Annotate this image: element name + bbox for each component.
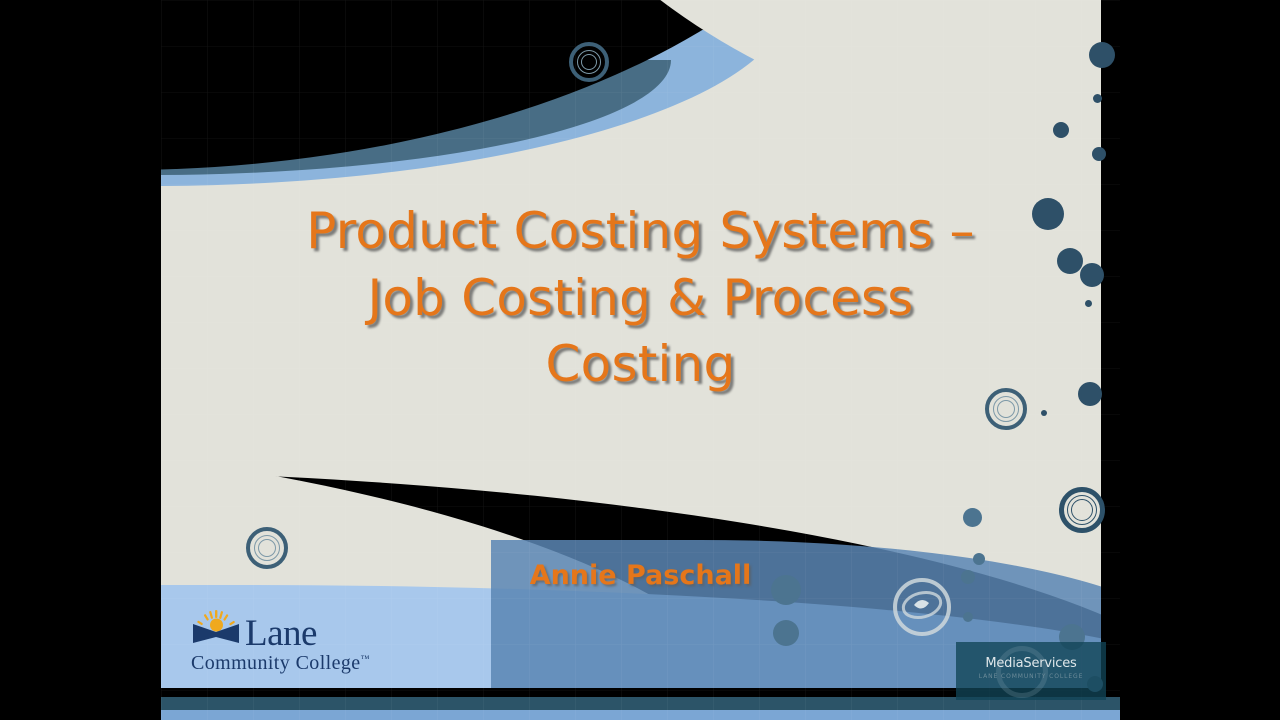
circle-dot-decoration (1053, 122, 1069, 138)
concentric-ring-icon (1059, 487, 1105, 533)
slide-title-line-1: Product Costing Systems – (161, 198, 1120, 265)
logo-wordmark: Lane (245, 617, 317, 651)
watermark-sublabel: LANE COMMUNITY COLLEGE (956, 673, 1106, 680)
bottom-light-blue-band (161, 710, 1120, 720)
logo-subtitle-text: Community College (191, 652, 361, 674)
slide-title: Product Costing Systems – Job Costing & … (161, 198, 1120, 398)
circle-dot-decoration (1041, 410, 1047, 416)
video-player-stage: Product Costing Systems – Job Costing & … (0, 0, 1280, 720)
lane-community-college-logo: Lane Community College™ (191, 608, 370, 675)
logo-subtitle: Community College™ (191, 652, 370, 675)
circle-dot-decoration (963, 508, 982, 527)
circle-dot-decoration (1092, 147, 1106, 161)
circle-dot-decoration (1089, 42, 1115, 68)
circle-dot-decoration (773, 620, 799, 646)
slide-title-line-3: Costing (161, 331, 1120, 398)
logo-trademark: ™ (361, 653, 370, 663)
book-sunrise-icon (191, 608, 243, 651)
circle-dot-decoration (963, 612, 973, 622)
watermark-label: MediaServices (956, 656, 1106, 671)
circle-dot-decoration (1093, 94, 1102, 103)
watermark-ring-icon (996, 646, 1048, 698)
presentation-slide: Product Costing Systems – Job Costing & … (161, 0, 1120, 720)
media-services-watermark: MediaServices LANE COMMUNITY COLLEGE (956, 642, 1106, 700)
concentric-ring-icon (569, 42, 609, 82)
presenter-name: Annie Paschall (161, 560, 1120, 591)
slide-title-line-2: Job Costing & Process (161, 265, 1120, 332)
